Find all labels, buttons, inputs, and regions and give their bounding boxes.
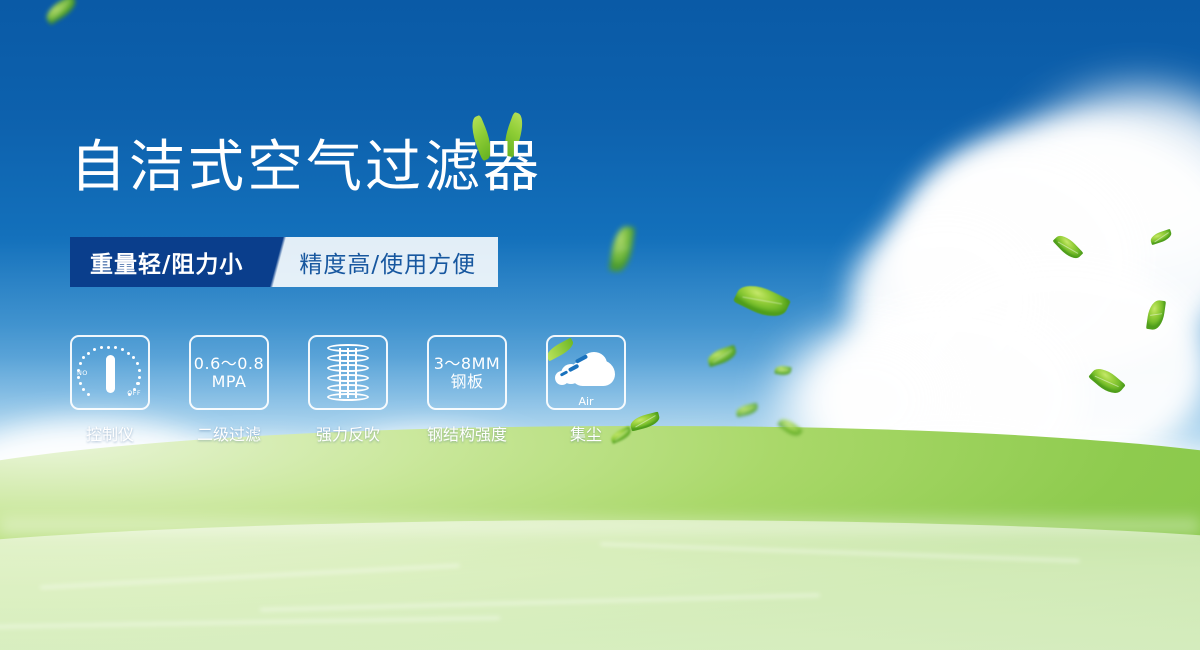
subtitle-divider <box>265 237 291 287</box>
feature-item-pressure[interactable]: 0.6～0.8 MPA 二级过滤 <box>189 335 269 445</box>
air-label: Air <box>555 395 617 408</box>
subtitle-left: 重量轻/阻力小 <box>70 237 265 287</box>
feature-icon-box: NO OFF <box>70 335 150 410</box>
subtitle-bar: 重量轻/阻力小 精度高/使用方便 <box>70 237 498 287</box>
grass-foreground <box>0 520 1200 650</box>
feature-item-backblow[interactable]: 强力反吹 <box>308 335 388 445</box>
coil-filter-icon <box>325 344 371 402</box>
feature-item-controller[interactable]: NO OFF 控制仪 <box>70 335 150 445</box>
feature-item-steel[interactable]: 3～8MM 钢板 钢结构强度 <box>427 335 507 445</box>
gauge-label-no: NO <box>77 369 88 377</box>
floating-leaf <box>735 403 759 417</box>
feature-icon-box <box>308 335 388 410</box>
floating-leaf <box>706 345 739 368</box>
page-title: 自洁式空气过滤器 <box>70 140 542 196</box>
feature-icon-box: Air <box>546 335 626 410</box>
feature-icon-box: 3～8MM 钢板 <box>427 335 507 410</box>
floating-leaf <box>733 278 791 324</box>
feature-label: 控制仪 <box>86 421 134 445</box>
steel-plate-text-icon: 3～8MM 钢板 <box>434 355 500 391</box>
feature-item-dust[interactable]: Air 集尘 <box>546 335 626 445</box>
gauge-label-off: OFF <box>127 389 141 397</box>
gauge-icon: NO OFF <box>78 344 142 402</box>
air-cloud-icon: Air <box>555 350 617 396</box>
feature-label: 钢结构强度 <box>427 421 507 445</box>
feature-label: 二级过滤 <box>197 421 261 445</box>
pressure-text-icon: 0.6～0.8 MPA <box>194 355 264 391</box>
gauge-needle <box>106 355 115 393</box>
product-banner: 自洁式空气过滤器 重量轻/阻力小 精度高/使用方便 <box>0 0 1200 650</box>
floating-leaf <box>609 225 635 273</box>
icon-leaf <box>546 337 576 361</box>
feature-label: 集尘 <box>570 421 602 445</box>
floating-leaf <box>43 0 80 25</box>
subtitle-right: 精度高/使用方便 <box>291 237 498 287</box>
feature-list: NO OFF 控制仪 0.6～0.8 MPA 二级过滤 <box>70 335 626 445</box>
feature-label: 强力反吹 <box>316 421 380 445</box>
feature-icon-box: 0.6～0.8 MPA <box>189 335 269 410</box>
